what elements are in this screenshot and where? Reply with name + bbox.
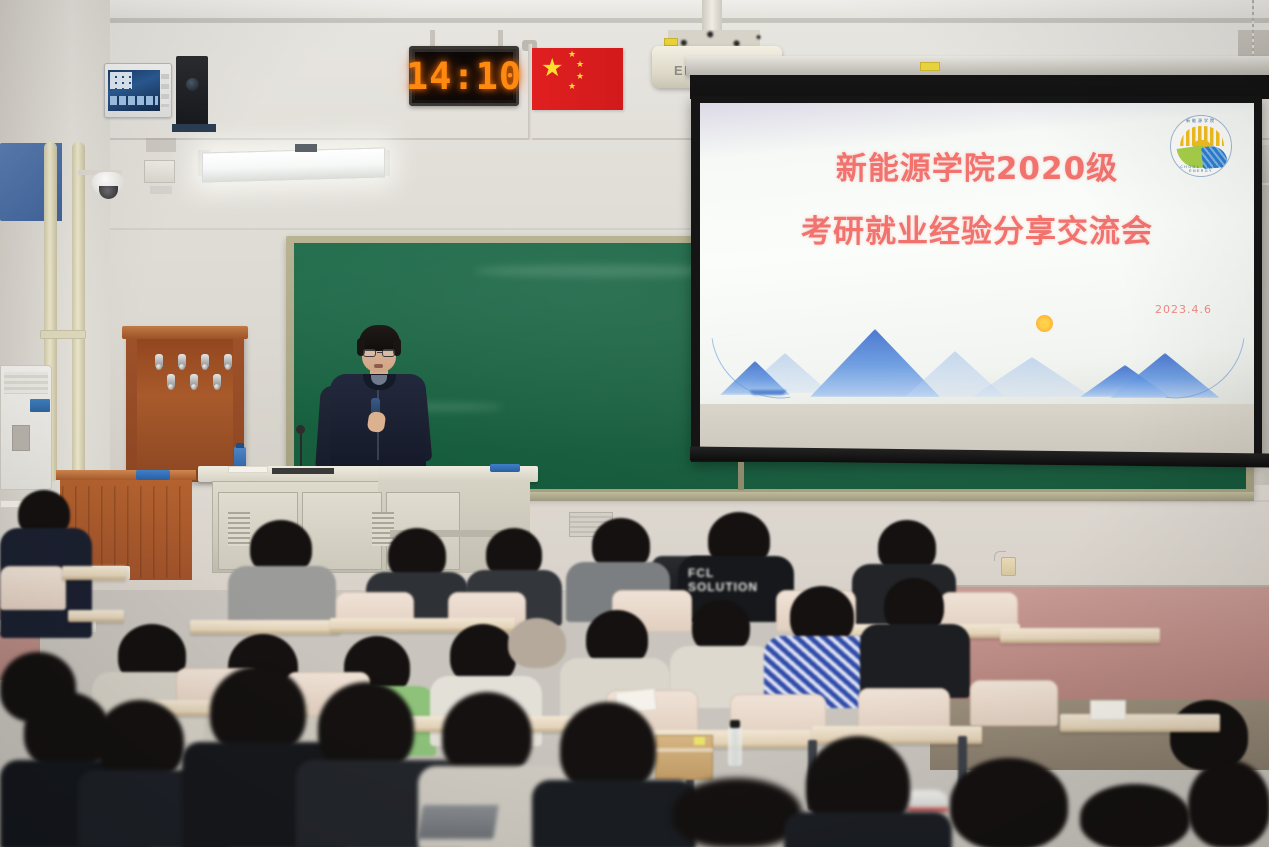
carton-label: [694, 737, 705, 745]
gooseneck-microphone-head-icon: [296, 425, 305, 434]
slide-date: 2023.4.6: [1155, 303, 1212, 316]
wall-power-outlet: [1001, 557, 1016, 576]
paper-on-lectern: [228, 466, 268, 473]
coat-hook-icon[interactable]: [213, 374, 221, 387]
student-head-light: [508, 618, 566, 668]
water-bottle-cap: [236, 443, 244, 448]
coat-hook-icon[interactable]: [201, 354, 209, 367]
coat-hook-icon[interactable]: [178, 354, 186, 367]
ac-vent: [4, 372, 48, 394]
coat-hook-icon[interactable]: [224, 354, 232, 367]
hoodie-print-text: FCL SOLUTION: [688, 566, 784, 578]
slide-sun-decoration: [1036, 315, 1053, 332]
screen-chain: [1252, 0, 1254, 58]
slide-corner-arc: [711, 328, 790, 407]
speaker-base: [172, 124, 216, 132]
av-control-button-grid[interactable]: [110, 72, 132, 89]
ceiling-junction-box: [295, 144, 317, 152]
speaker-cone-icon: [186, 78, 199, 91]
screen-hanger: [738, 462, 744, 490]
emblem-top-text: 新能源学院: [1171, 118, 1231, 124]
dark-item-on-lectern: [272, 468, 334, 474]
av-control-button-row[interactable]: [110, 96, 158, 105]
projector-asset-tag: [664, 38, 678, 46]
wall-pipe: [72, 142, 85, 487]
wall-mark: [146, 138, 176, 152]
ac-display: [12, 425, 30, 451]
coat-rack-top: [122, 326, 248, 339]
coat-hook-icon[interactable]: [155, 354, 163, 367]
flag-star-small: ★: [576, 72, 584, 81]
lecture-desk: [190, 620, 340, 634]
lecture-desk: [1000, 628, 1160, 643]
water-bottle: [728, 726, 742, 766]
water-bottle-cap: [730, 720, 740, 728]
screen-housing: [686, 56, 1269, 76]
ceiling-shadow: [0, 18, 1269, 23]
lecture-seat-back: [0, 566, 66, 610]
presenter-glasses-left: [363, 349, 376, 357]
pipe-clip: [40, 330, 86, 339]
flag-star-large: ★: [541, 56, 563, 81]
slide-title-line2: 考研就业经验分享交流会: [700, 206, 1254, 251]
student-head: [672, 778, 802, 847]
student-torso: [228, 566, 336, 624]
paper-sheet: [1090, 700, 1126, 720]
blue-item-on-desk: [490, 464, 520, 472]
emblem-bottom-text: SCHOOL OF NEW ENERGY: [1171, 165, 1231, 173]
lecture-desk-shelf: [68, 610, 124, 622]
flag-star-small: ★: [568, 82, 576, 91]
lectern-door-panel[interactable]: [302, 492, 382, 570]
av-control-side-buttons[interactable]: [161, 74, 169, 107]
flag-star-small: ★: [568, 50, 576, 59]
carton-tape: [655, 748, 713, 752]
student-torso: [784, 812, 952, 847]
student-head: [1170, 700, 1248, 770]
coat-hook-icon[interactable]: [190, 374, 198, 387]
digital-clock-face: 14:10: [415, 52, 513, 100]
flag-star-small: ★: [576, 60, 584, 69]
lecture-desk: [62, 566, 126, 580]
school-emblem-icon: 新能源学院 SCHOOL OF NEW ENERGY: [1170, 115, 1232, 177]
projection-screen-canvas: 新能源学院2020级 考研就业经验分享交流会 2023.4.6 新能源学院 SC…: [700, 103, 1254, 416]
screen-asset-tag: [920, 62, 940, 71]
podium-top: [56, 470, 196, 480]
laptop: [417, 805, 498, 839]
lecture-seat-back: [970, 680, 1058, 726]
presenter-glasses-right: [382, 349, 395, 357]
ac-energy-label: [30, 399, 50, 412]
student-head: [950, 758, 1068, 847]
lecture-hall-photo: 14:10 ★ ★ ★ ★ ★ EPSON 新能源学院2020级 考研就业经验分…: [0, 0, 1269, 847]
lectern-vent-louver: [228, 512, 250, 546]
wall-mark: [150, 186, 172, 194]
clock-time-text: 14:10: [406, 55, 522, 98]
student-torso: [860, 624, 970, 698]
presenter-glasses-bridge: [377, 352, 382, 353]
wall-junction-box: [144, 160, 175, 183]
student-head: [1080, 784, 1190, 847]
blue-item-on-podium: [136, 470, 170, 480]
coat-hook-icon[interactable]: [167, 374, 175, 387]
gooseneck-microphone-stem: [300, 430, 302, 470]
slide-mountain: [972, 357, 1092, 397]
presenter-mouth: [374, 364, 383, 368]
wall-speaker: [176, 56, 208, 128]
student-head: [1188, 760, 1269, 847]
sneaker: [905, 790, 949, 812]
fluorescent-light-icon: [202, 147, 385, 182]
lecture-desk: [1060, 714, 1220, 732]
